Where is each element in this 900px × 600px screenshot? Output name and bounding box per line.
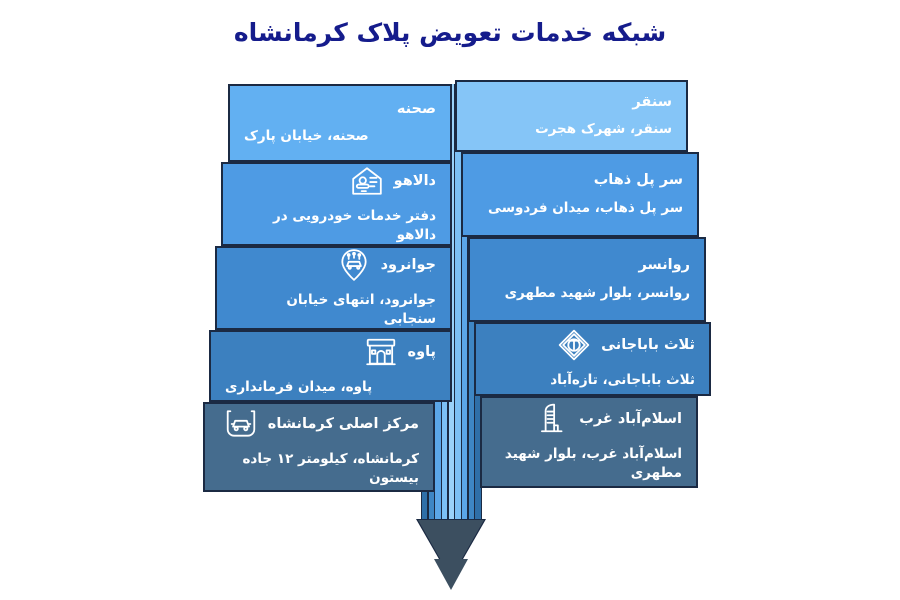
branch-name: روانسر — [638, 257, 690, 274]
branch-card-header: پاوه — [225, 335, 436, 369]
branch-card-1[interactable]: صحنهصحنه، خیابان پارک — [228, 84, 452, 162]
branch-card-3[interactable]: جوانرودجوانرود، انتهای خیابان سنجابی — [215, 246, 452, 330]
tower-icon — [535, 402, 569, 436]
branch-card-header: جوانرود — [231, 248, 436, 282]
branch-card-5[interactable]: مرکز اصلی کرمانشاهکرمانشاه، کیلومتر ۱۲ ج… — [203, 402, 435, 492]
branch-name: پاوه — [408, 344, 436, 361]
branch-card-2[interactable]: دالاهودفتر خدمات خودرویی در دالاهو — [221, 162, 452, 246]
branch-card-4[interactable]: ثلاث باباجانیثلاث باباجانی، تازه‌آباد — [474, 322, 711, 396]
branch-card-5[interactable]: اسلام‌آباد غرباسلام‌آباد غرب، بلوار شهید… — [480, 396, 698, 488]
branch-name: اسلام‌آباد غرب — [579, 411, 682, 428]
branch-name: جوانرود — [381, 257, 436, 274]
diamond-sign-icon — [557, 328, 591, 362]
car-wash-pin-icon — [337, 248, 371, 282]
service-house-icon — [350, 164, 384, 198]
branch-card-2[interactable]: سر پل ذهابسر پل ذهاب، میدان فردوسی — [461, 152, 699, 237]
branch-name: ثلاث باباجانی — [601, 337, 695, 354]
branch-name: مرکز اصلی کرمانشاه — [268, 416, 419, 433]
branch-card-header: ثلاث باباجانی — [490, 328, 695, 362]
branch-address: جوانرود، انتهای خیابان سنجابی — [231, 291, 436, 327]
branch-address: سنقر، شهرک هجرت — [535, 120, 672, 138]
branch-name: دالاهو — [394, 173, 436, 190]
branch-address: ثلاث باباجانی، تازه‌آباد — [550, 371, 695, 389]
branch-card-header: سنقر — [471, 94, 672, 111]
branch-name: صحنه — [397, 101, 436, 118]
branch-card-header: دالاهو — [237, 164, 436, 198]
car-bay-icon — [224, 407, 258, 441]
branch-card-header: اسلام‌آباد غرب — [496, 402, 682, 436]
arrow-tip-lower — [434, 559, 468, 590]
storefront-icon — [364, 335, 398, 369]
infographic-canvas: شبکه خدمات تعویض پلاک کرمانشاه صحنهصحنه،… — [0, 0, 900, 600]
branch-card-header: مرکز اصلی کرمانشاه — [219, 407, 419, 441]
branch-card-header: سر پل ذهاب — [477, 172, 683, 189]
branch-address: روانسر، بلوار شهید مطهری — [505, 284, 690, 302]
branch-card-header: روانسر — [484, 257, 690, 274]
branch-address: پاوه، میدان فرمانداری — [225, 378, 372, 396]
branch-address: اسلام‌آباد غرب، بلوار شهید مطهری — [496, 445, 682, 481]
branch-card-header: صحنه — [244, 101, 436, 118]
page-title: شبکه خدمات تعویض پلاک کرمانشاه — [0, 18, 900, 47]
branch-card-1[interactable]: سنقرسنقر، شهرک هجرت — [455, 80, 688, 152]
branch-card-4[interactable]: پاوهپاوه، میدان فرمانداری — [209, 330, 452, 402]
branch-address: دفتر خدمات خودرویی در دالاهو — [237, 207, 436, 243]
branch-address: سر پل ذهاب، میدان فردوسی — [488, 199, 683, 217]
branch-card-3[interactable]: روانسرروانسر، بلوار شهید مطهری — [468, 237, 706, 322]
branch-name: سر پل ذهاب — [594, 172, 683, 189]
branch-address: صحنه، خیابان پارک — [244, 127, 369, 145]
branch-name: سنقر — [632, 94, 672, 111]
branch-address: کرمانشاه، کیلومتر ۱۲ جاده بیستون — [219, 450, 419, 486]
